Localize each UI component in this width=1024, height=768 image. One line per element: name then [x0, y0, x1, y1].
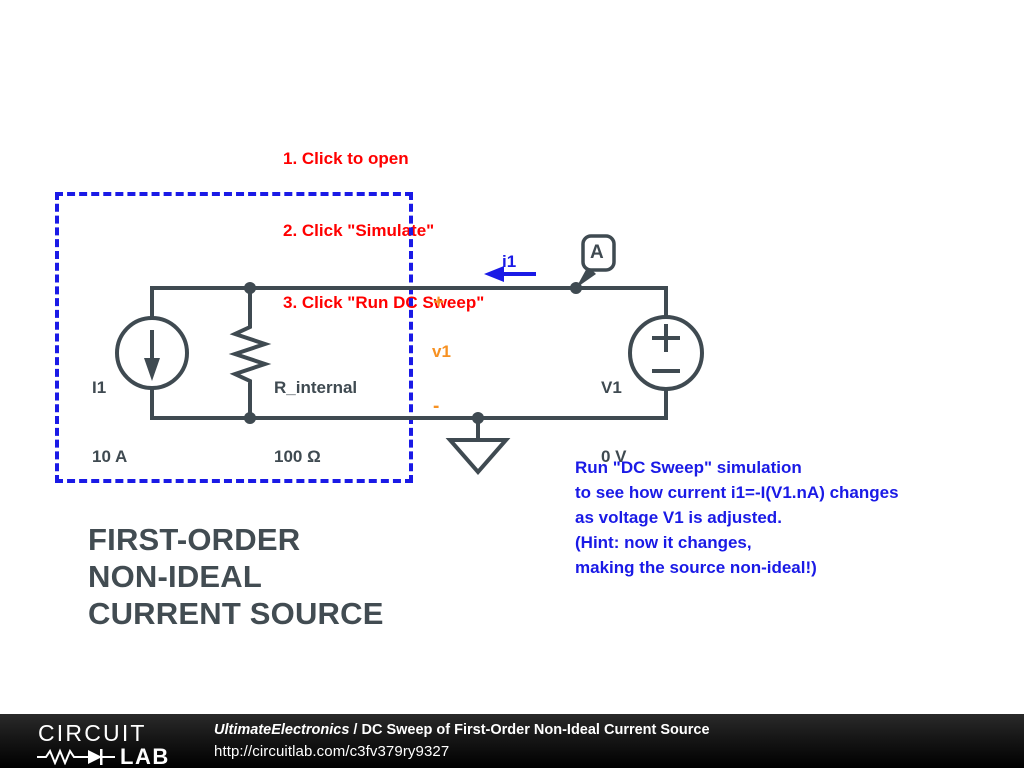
- voltage-source-symbol[interactable]: [630, 317, 702, 389]
- component-label-r-internal: R_internal 100 Ω: [274, 330, 357, 514]
- simulation-note: Run "DC Sweep" simulation to see how cur…: [575, 455, 899, 580]
- circuitlab-logo[interactable]: CIRCUIT LAB: [36, 719, 196, 765]
- breadcrumb-separator: /: [349, 722, 361, 738]
- note-line-3: as voltage V1 is adjusted.: [575, 505, 899, 530]
- breadcrumb-site[interactable]: UltimateElectronics: [214, 722, 349, 738]
- voltage-probe-plus: +: [433, 292, 444, 314]
- slide-canvas: 1. Click to open 2. Click "Simulate" 3. …: [0, 0, 1024, 768]
- junction-dot: [472, 412, 484, 424]
- breadcrumb-title: DC Sweep of First-Order Non-Ideal Curren…: [361, 722, 709, 738]
- ammeter-label: A: [590, 242, 604, 264]
- junction-dot: [570, 282, 582, 294]
- caption-line-3: CURRENT SOURCE: [88, 595, 384, 632]
- component-name-v1: V1: [601, 376, 627, 399]
- diode-bar-icon: [100, 749, 103, 765]
- footer-breadcrumb: UltimateElectronics / DC Sweep of First-…: [214, 720, 710, 741]
- voltage-probe-label: v1: [432, 342, 451, 362]
- ground-symbol[interactable]: [450, 440, 506, 472]
- current-probe-label: i1: [502, 252, 516, 272]
- component-name-r-internal: R_internal: [274, 376, 357, 399]
- component-value-i1: 10 A: [92, 445, 127, 468]
- note-line-5: making the source non-ideal!): [575, 555, 899, 580]
- instruction-step-1: 1. Click to open: [283, 147, 484, 171]
- footer-url[interactable]: http://circuitlab.com/c3fv379ry9327: [214, 741, 710, 762]
- schematic-caption: FIRST-ORDER NON-IDEAL CURRENT SOURCE: [88, 521, 384, 632]
- component-label-i1: I1 10 A: [92, 330, 127, 514]
- note-line-4: (Hint: now it changes,: [575, 530, 899, 555]
- caption-line-2: NON-IDEAL: [88, 558, 384, 595]
- footer-text-block: UltimateElectronics / DC Sweep of First-…: [214, 720, 710, 762]
- logo-wordmark-lab: LAB: [120, 744, 170, 765]
- caption-line-1: FIRST-ORDER: [88, 521, 384, 558]
- note-line-1: Run "DC Sweep" simulation: [575, 455, 899, 480]
- logo-wordmark-circuit: CIRCUIT: [38, 720, 147, 746]
- note-line-2: to see how current i1=-I(V1.nA) changes: [575, 480, 899, 505]
- component-name-i1: I1: [92, 376, 127, 399]
- component-value-r-internal: 100 Ω: [274, 445, 357, 468]
- voltage-probe-minus: -: [433, 396, 439, 418]
- diode-arrow-icon: [88, 750, 102, 764]
- footer-bar: CIRCUIT LAB UltimateElectronics / DC Swe…: [0, 714, 1024, 768]
